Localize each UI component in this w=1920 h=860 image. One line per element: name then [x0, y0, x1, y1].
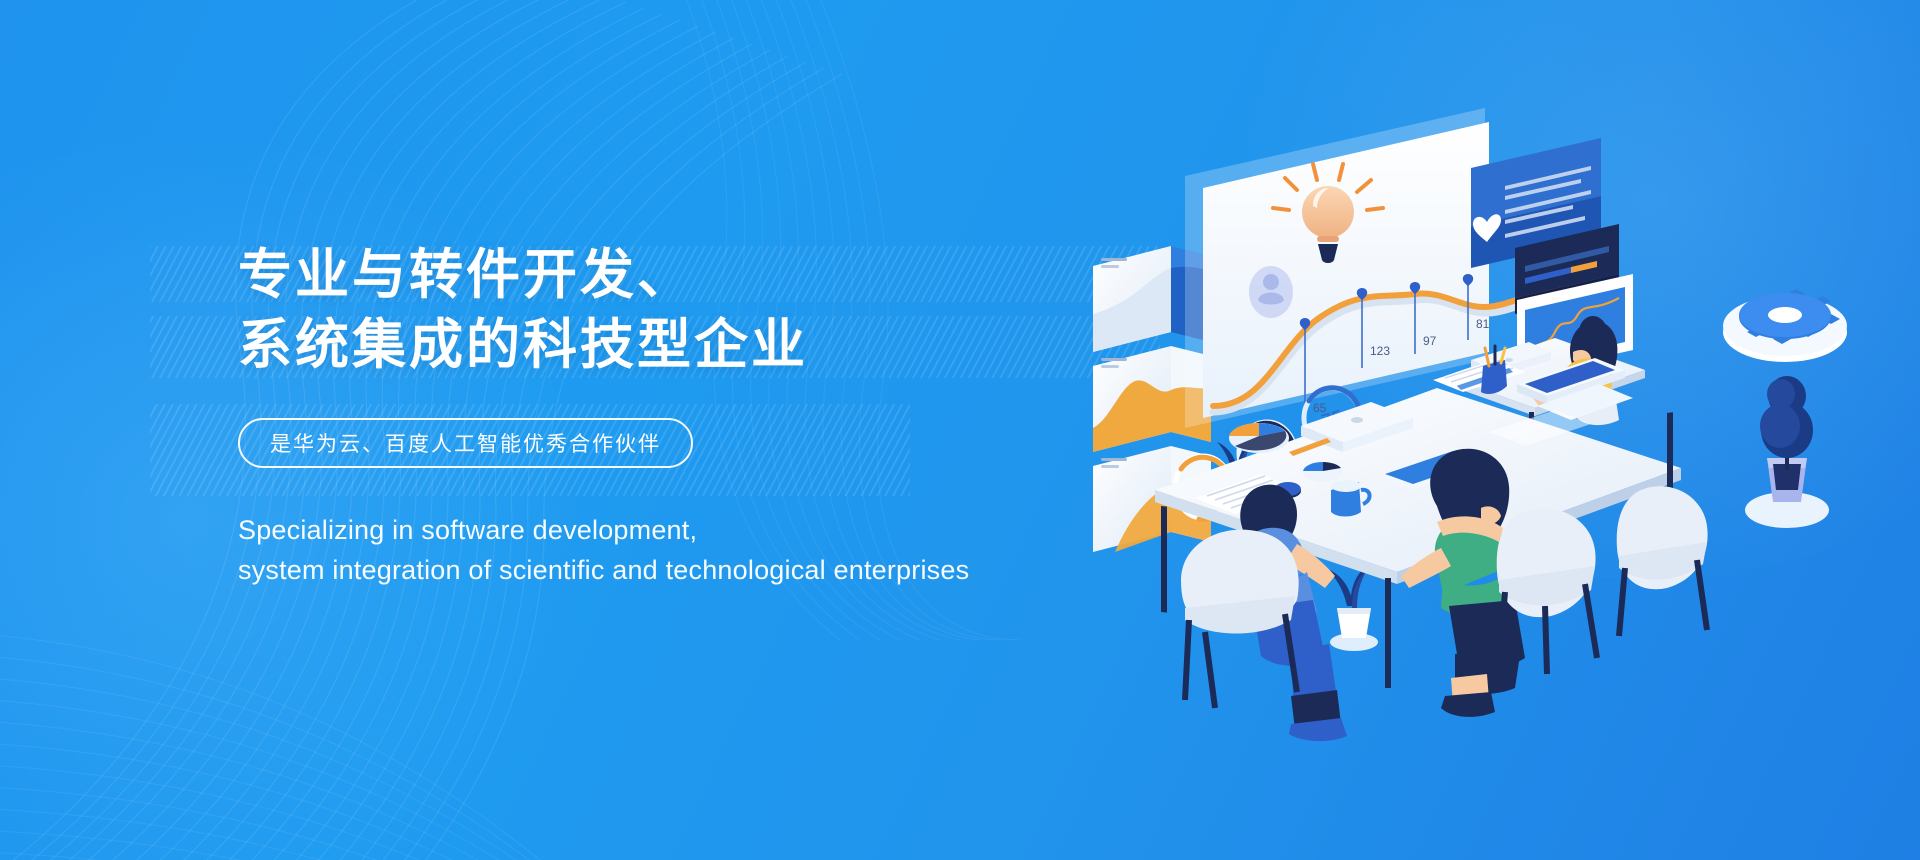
chart-label-2: 123 [1370, 344, 1390, 358]
hero-banner: 专业与转件开发、 系统集成的科技型企业 是华为云、百度人工智能优秀合作伙伴 Sp… [0, 0, 1920, 860]
office-chair-left [1181, 530, 1299, 708]
headline-line-1: 专业与转件开发、 [238, 240, 1198, 310]
partner-badge[interactable]: 是华为云、百度人工智能优秀合作伙伴 [238, 418, 693, 468]
pie-chart-small [1303, 462, 1343, 482]
topiary-plant [1745, 376, 1829, 528]
partner-badge-label: 是华为云、百度人工智能优秀合作伙伴 [270, 428, 661, 458]
gear-icon [1723, 289, 1847, 362]
subtitle-line-2: system integration of scientific and tec… [238, 550, 1198, 590]
pie-chart [1229, 423, 1289, 453]
subtitle-line-1: Specializing in software development, [238, 510, 1198, 550]
chart-label-3: 97 [1423, 334, 1437, 348]
hero-illustration: 65 123 97 81 [1085, 60, 1895, 800]
office-chair-far-right [1617, 486, 1708, 636]
chart-label-4: 81 [1476, 317, 1490, 331]
headline-line-2: 系统集成的科技型企业 [238, 310, 1198, 380]
hero-subtitle: Specializing in software development, sy… [238, 510, 1198, 590]
page-title: 专业与转件开发、 系统集成的科技型企业 [238, 240, 1198, 380]
hero-copy: 专业与转件开发、 系统集成的科技型企业 是华为云、百度人工智能优秀合作伙伴 Sp… [238, 240, 1198, 590]
pencil-holder [1481, 346, 1507, 394]
